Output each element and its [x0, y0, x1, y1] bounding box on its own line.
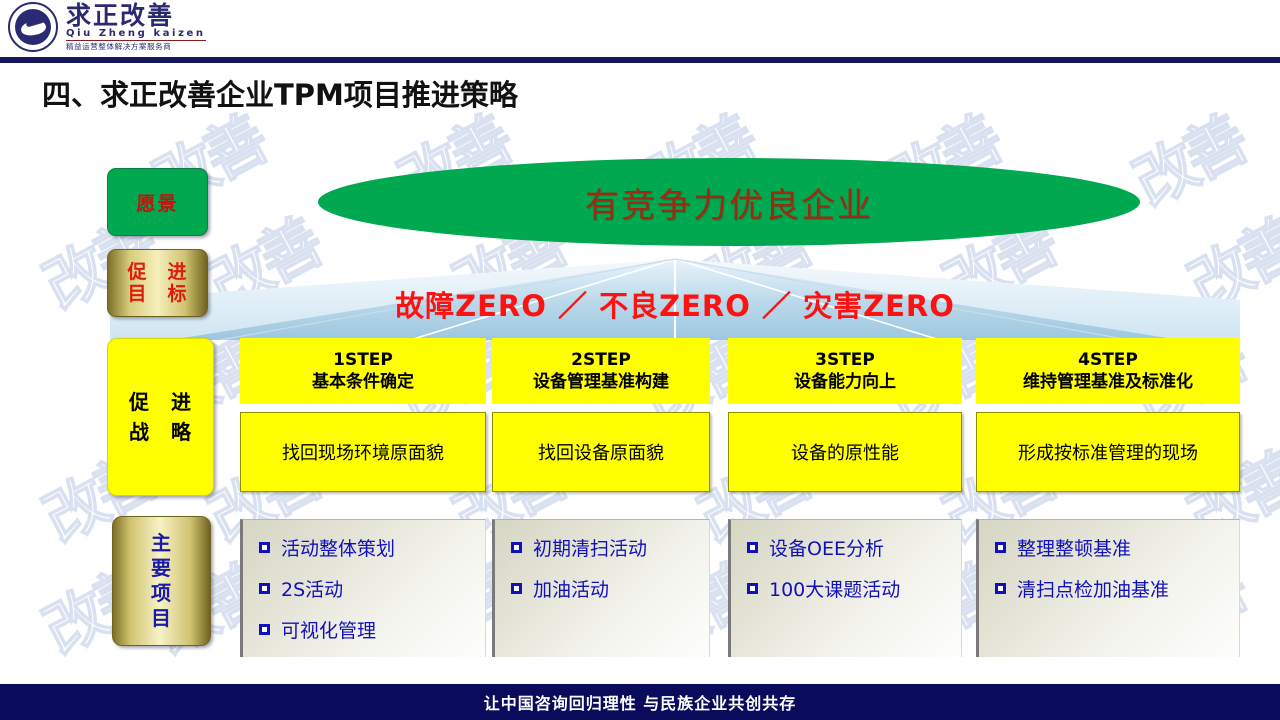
step-header-4: 4STEP 维持管理基准及标准化 — [976, 338, 1240, 404]
project-bullet-label: 整理整顿基准 — [1017, 534, 1131, 561]
brand-name-en: Qiu Zheng kaizen — [66, 29, 206, 41]
square-bullet-icon — [259, 542, 270, 553]
project-bullet-label: 可视化管理 — [281, 616, 376, 643]
project-bullet-label: 设备OEE分析 — [769, 534, 884, 561]
footer-slogan: 让中国咨询回归理性 与民族企业共创共存 — [484, 690, 797, 714]
square-bullet-icon — [511, 583, 522, 594]
rail-label-projects-line2: 要 — [151, 556, 172, 581]
rail-label-goal-line1: 促 进 — [127, 261, 187, 283]
step-goal-4: 形成按标准管理的现场 — [976, 412, 1240, 492]
project-bullet-item: 2S活动 — [259, 575, 475, 602]
project-panel-2[interactable]: 初期清扫活动加油活动 — [492, 519, 710, 657]
slide-footer: 让中国咨询回归理性 与民族企业共创共存 — [0, 684, 1280, 720]
square-bullet-icon — [995, 542, 1006, 553]
header-divider — [0, 57, 1280, 63]
step-goal-3: 设备的原性能 — [728, 412, 962, 492]
project-bullet-item: 初期清扫活动 — [511, 534, 699, 561]
square-bullet-icon — [995, 583, 1006, 594]
project-bullet-label: 清扫点检加油基准 — [1017, 575, 1169, 602]
step-number-4: 4STEP — [1078, 349, 1138, 371]
project-bullet-item: 设备OEE分析 — [747, 534, 951, 561]
square-bullet-icon — [259, 624, 270, 635]
project-bullet-label: 100大课题活动 — [769, 575, 900, 602]
step-column-4[interactable]: 4STEP 维持管理基准及标准化 形成按标准管理的现场 — [976, 338, 1240, 492]
step-title-4: 维持管理基准及标准化 — [1023, 371, 1193, 393]
rail-label-vision-text: 愿景 — [136, 189, 178, 216]
rail-label-projects: 主 要 项 目 — [112, 516, 211, 646]
step-goal-1: 找回现场环境原面貌 — [240, 412, 486, 492]
brand-name-cn: 求正改善 — [66, 3, 206, 28]
step-title-2: 设备管理基准构建 — [533, 371, 669, 393]
rail-label-strategy-line1: 促 进 — [129, 387, 192, 417]
page-title: 四、求正改善企业TPM项目推进策略 — [42, 72, 518, 114]
project-bullet-item: 清扫点检加油基准 — [995, 575, 1229, 602]
project-panel-1[interactable]: 活动整体策划2S活动可视化管理 — [240, 519, 486, 657]
brand-logo: 求正改善 Qiu Zheng kaizen 精益运营整体解决方案服务商 — [8, 2, 206, 52]
project-bullet-label: 初期清扫活动 — [533, 534, 647, 561]
step-column-2[interactable]: 2STEP 设备管理基准构建 找回设备原面貌 — [492, 338, 710, 492]
brand-tagline: 精益运营整体解决方案服务商 — [66, 43, 206, 51]
slide-header: 求正改善 Qiu Zheng kaizen 精益运营整体解决方案服务商 — [0, 0, 1280, 57]
square-bullet-icon — [747, 542, 758, 553]
project-panel-3[interactable]: 设备OEE分析100大课题活动 — [728, 519, 962, 657]
rail-label-strategy: 促 进 战 略 — [107, 338, 214, 496]
square-bullet-icon — [511, 542, 522, 553]
step-number-2: 2STEP — [571, 349, 631, 371]
project-bullet-item: 加油活动 — [511, 575, 699, 602]
project-panel-4[interactable]: 整理整顿基准清扫点检加油基准 — [976, 519, 1240, 657]
project-bullet-label: 活动整体策划 — [281, 534, 395, 561]
square-bullet-icon — [747, 583, 758, 594]
rail-label-projects-line1: 主 — [151, 531, 172, 556]
rail-label-projects-line4: 目 — [151, 606, 172, 631]
project-bullet-label: 2S活动 — [281, 575, 343, 602]
project-bullet-item: 可视化管理 — [259, 616, 475, 643]
step-header-1: 1STEP 基本条件确定 — [240, 338, 486, 404]
rail-label-vision: 愿景 — [107, 168, 208, 236]
step-number-1: 1STEP — [333, 349, 393, 371]
step-title-1: 基本条件确定 — [312, 371, 414, 393]
step-header-3: 3STEP 设备能力向上 — [728, 338, 962, 404]
rail-label-projects-line3: 项 — [151, 581, 172, 606]
step-column-3[interactable]: 3STEP 设备能力向上 设备的原性能 — [728, 338, 962, 492]
project-bullet-label: 加油活动 — [533, 575, 609, 602]
vision-statement: 有竞争力优良企业 — [585, 178, 873, 227]
project-bullet-item: 100大课题活动 — [747, 575, 951, 602]
step-goal-2: 找回设备原面貌 — [492, 412, 710, 492]
project-bullet-item: 活动整体策划 — [259, 534, 475, 561]
zero-goal-statement: 故障ZERO ／ 不良ZERO ／ 灾害ZERO — [110, 283, 1240, 325]
project-bullet-item: 整理整顿基准 — [995, 534, 1229, 561]
slide-canvas: 改善改善改善改善改善改善改善改善改善改善改善改善改善改善改善改善改善改善改善改善… — [0, 0, 1280, 720]
step-column-1[interactable]: 1STEP 基本条件确定 找回现场环境原面貌 — [240, 338, 486, 492]
rail-label-strategy-line2: 战 略 — [129, 417, 192, 447]
vision-ellipse: 有竞争力优良企业 — [318, 158, 1140, 246]
step-title-3: 设备能力向上 — [794, 371, 896, 393]
step-number-3: 3STEP — [815, 349, 875, 371]
square-bullet-icon — [259, 583, 270, 594]
kaizen-circle-icon — [8, 2, 58, 52]
step-header-2: 2STEP 设备管理基准构建 — [492, 338, 710, 404]
